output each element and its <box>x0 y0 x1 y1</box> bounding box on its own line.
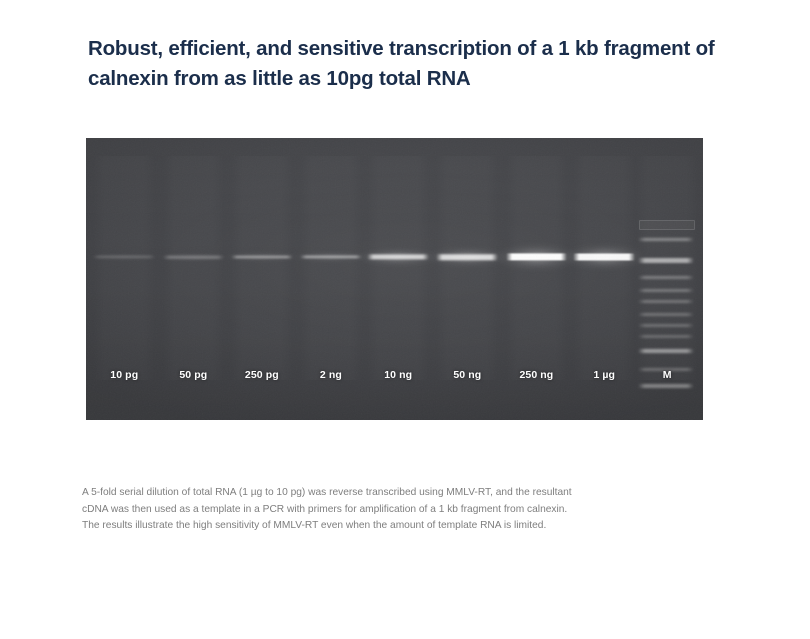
gel-band <box>506 243 568 271</box>
marker-band <box>638 313 694 316</box>
marker-band <box>638 300 694 303</box>
lane-label-m: M <box>612 369 703 381</box>
marker-lane-well <box>639 220 695 230</box>
band-core <box>93 256 155 258</box>
band-core <box>163 256 225 259</box>
caption-line: A 5-fold serial dilution of total RNA (1… <box>82 485 707 502</box>
gel-band <box>231 243 293 271</box>
page-title: Robust, efficient, and sensitive transcr… <box>88 34 738 94</box>
figure-caption: A 5-fold serial dilution of total RNA (1… <box>82 485 707 535</box>
band-core <box>367 254 429 259</box>
band-core <box>573 254 635 261</box>
gel-band <box>367 243 429 271</box>
gel-electrophoresis-image: 10 pg50 pg250 pg2 ng10 ng50 ng250 ng1 µg… <box>86 138 703 420</box>
band-core <box>506 253 568 260</box>
gel-band <box>300 243 362 271</box>
marker-band <box>638 384 694 388</box>
band-core <box>300 255 362 258</box>
marker-band <box>638 349 694 353</box>
marker-band <box>638 238 694 241</box>
gel-band <box>163 243 225 271</box>
marker-band <box>638 258 694 263</box>
gel-band <box>573 243 635 271</box>
gel-band <box>436 243 498 271</box>
lane-streak <box>636 156 698 380</box>
marker-band <box>638 289 694 292</box>
band-core <box>231 255 293 258</box>
marker-band <box>638 276 694 279</box>
marker-band <box>638 335 694 338</box>
gel-band <box>93 243 155 271</box>
band-core <box>436 254 498 260</box>
caption-line: The results illustrate the high sensitiv… <box>82 518 707 535</box>
caption-line: cDNA was then used as a template in a PC… <box>82 502 707 519</box>
marker-band <box>638 324 694 327</box>
